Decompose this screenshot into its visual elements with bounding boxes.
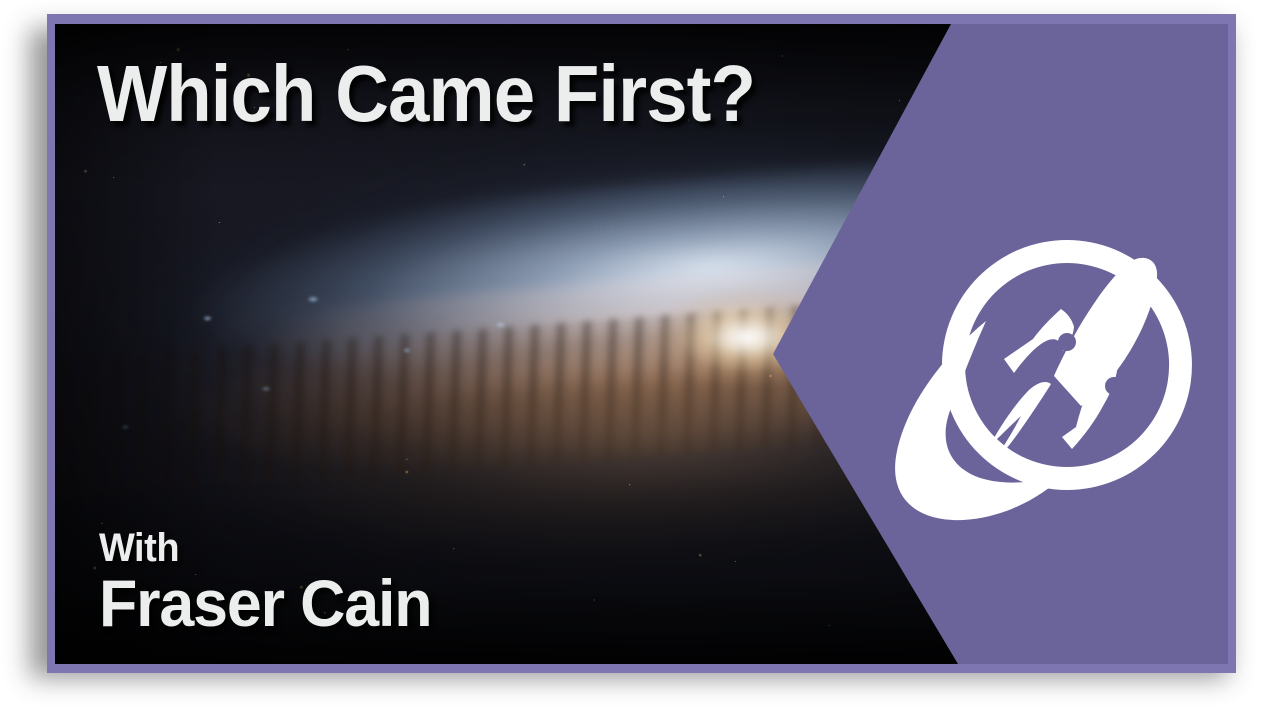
host-name: Fraser Cain	[99, 569, 431, 638]
thumbnail-canvas: Which Came First? With Fraser Cain	[0, 0, 1280, 720]
rocket-orbit-logo	[873, 206, 1203, 526]
byline-prefix: With	[99, 528, 431, 570]
thumbnail-card: Which Came First? With Fraser Cain	[47, 14, 1236, 673]
card-inner-area: Which Came First? With Fraser Cain	[55, 24, 1228, 664]
byline: With Fraser Cain	[99, 528, 449, 638]
page-title: Which Came First?	[97, 54, 755, 134]
rocket-porthole-lower-icon	[1105, 377, 1123, 395]
rocket-porthole-upper-icon	[1058, 333, 1076, 351]
